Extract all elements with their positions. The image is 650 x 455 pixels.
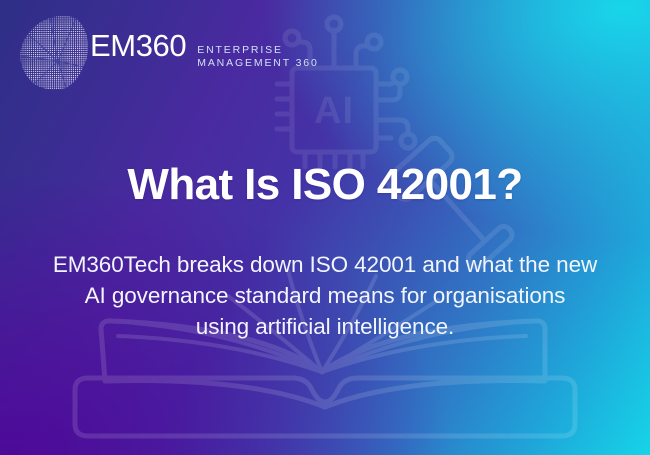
social-card: AI [0, 0, 650, 455]
brand-tagline-line1: ENTERPRISE [197, 44, 283, 56]
brand-logo[interactable]: EM360 ENTERPRISE MANAGEMENT 360 [14, 12, 319, 92]
page-title: What Is ISO 42001? [0, 163, 650, 207]
subtitle-line-1: EM360Tech breaks down ISO 42001 and what… [36, 249, 614, 280]
subtitle-line-2: AI governance standard means for organis… [36, 280, 614, 311]
brand-wordmark: EM360 [90, 30, 186, 61]
brand-tagline-line2: MANAGEMENT 360 [197, 57, 318, 69]
brand-tagline: ENTERPRISE MANAGEMENT 360 [197, 44, 318, 70]
em360-fan-logo-icon [14, 12, 88, 92]
subtitle-line-3: using artificial intelligence. [36, 311, 614, 342]
page-subtitle: EM360Tech breaks down ISO 42001 and what… [36, 249, 614, 342]
